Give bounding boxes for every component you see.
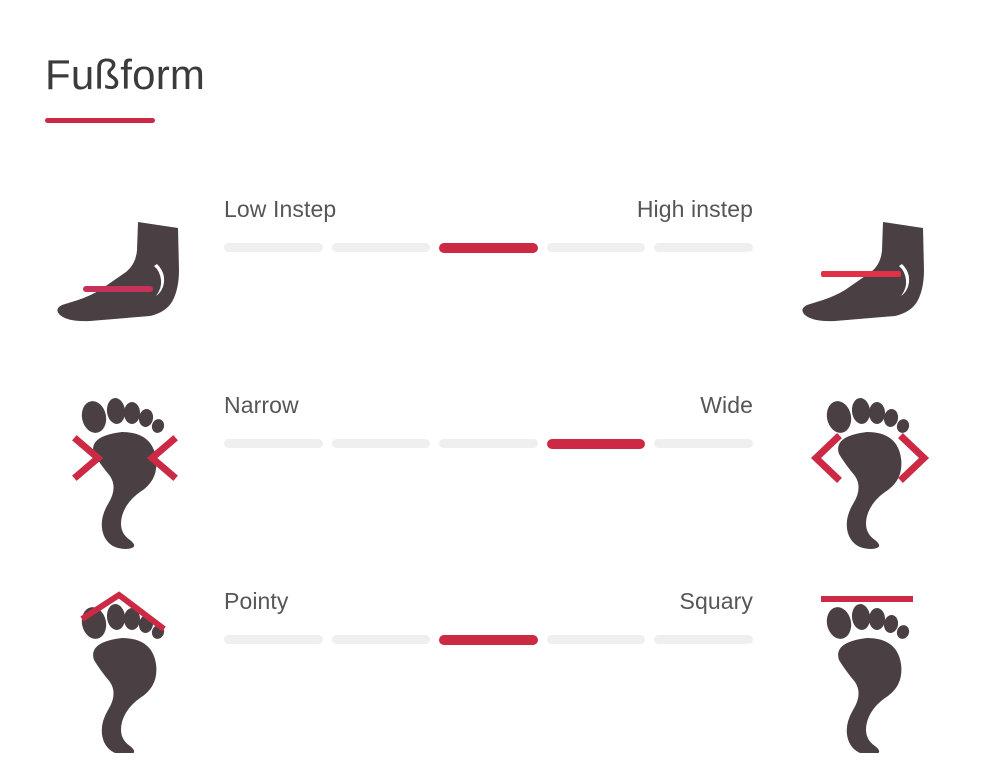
page-title: Fußform bbox=[45, 52, 545, 98]
scale-toe-shape: Pointy Squary bbox=[224, 570, 753, 766]
footprint-narrow-icon bbox=[30, 374, 220, 570]
scale-segment-3[interactable] bbox=[439, 243, 538, 253]
scale-label-squary: Squary bbox=[680, 588, 753, 615]
scale-segment-4[interactable] bbox=[547, 439, 646, 449]
footprint-wide-icon bbox=[775, 374, 965, 570]
footprint-pointy-icon bbox=[30, 570, 220, 766]
scale-segment-1[interactable] bbox=[224, 243, 323, 252]
scale-track-width[interactable] bbox=[224, 439, 753, 449]
scale-segment-2[interactable] bbox=[332, 243, 431, 252]
scale-segment-3[interactable] bbox=[439, 439, 538, 448]
scale-segment-1[interactable] bbox=[224, 635, 323, 644]
scale-segment-5[interactable] bbox=[654, 635, 753, 644]
scale-labels-width: Narrow Wide bbox=[224, 392, 753, 419]
scale-label-narrow: Narrow bbox=[224, 392, 299, 419]
scale-segment-2[interactable] bbox=[332, 439, 431, 448]
page-header: Fußform bbox=[45, 52, 545, 123]
scale-labels-instep: Low Instep High instep bbox=[224, 196, 753, 223]
scale-instep: Low Instep High instep bbox=[224, 178, 753, 374]
scale-label-low-instep: Low Instep bbox=[224, 196, 336, 223]
scale-segment-1[interactable] bbox=[224, 439, 323, 448]
scale-label-high-instep: High instep bbox=[637, 196, 753, 223]
foot-side-low-instep-icon bbox=[30, 178, 220, 374]
scale-label-pointy: Pointy bbox=[224, 588, 289, 615]
scale-label-wide: Wide bbox=[700, 392, 753, 419]
scale-track-toe-shape[interactable] bbox=[224, 635, 753, 645]
scale-labels-toe-shape: Pointy Squary bbox=[224, 588, 753, 615]
row-instep: Low Instep High instep bbox=[0, 178, 1000, 374]
scale-track-instep[interactable] bbox=[224, 243, 753, 253]
scale-segment-5[interactable] bbox=[654, 439, 753, 448]
scale-segment-4[interactable] bbox=[547, 635, 646, 644]
foot-shape-rows: Low Instep High instep bbox=[0, 178, 1000, 766]
scale-segment-4[interactable] bbox=[547, 243, 646, 252]
scale-segment-5[interactable] bbox=[654, 243, 753, 252]
title-accent-rule bbox=[45, 118, 155, 123]
row-width: Narrow Wide bbox=[0, 374, 1000, 570]
scale-segment-3[interactable] bbox=[439, 635, 538, 645]
row-toe-shape: Pointy Squary bbox=[0, 570, 1000, 766]
foot-side-high-instep-icon bbox=[775, 178, 965, 374]
scale-width: Narrow Wide bbox=[224, 374, 753, 570]
footprint-squary-icon bbox=[775, 570, 965, 766]
scale-segment-2[interactable] bbox=[332, 635, 431, 644]
